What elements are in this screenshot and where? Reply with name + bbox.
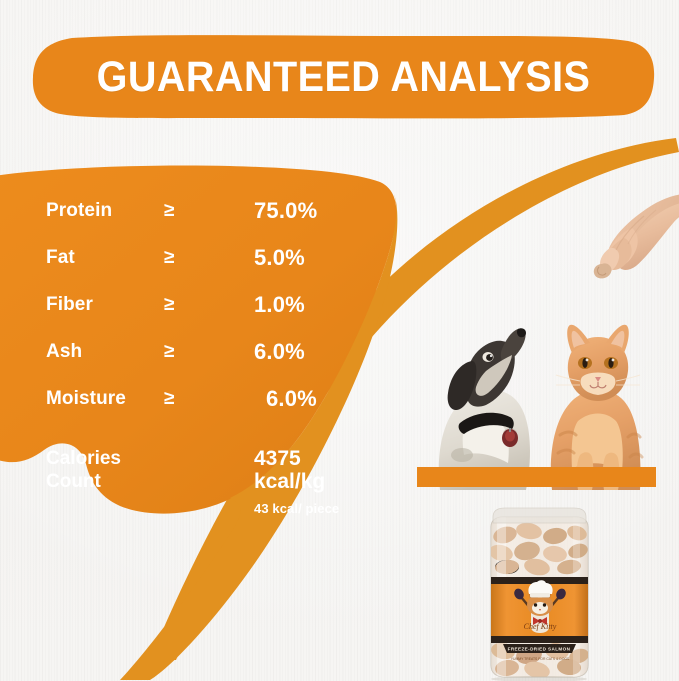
hand-illustration (566, 192, 679, 287)
calories-label: Calories Count (46, 447, 121, 493)
pets-photo (414, 305, 679, 490)
calories-per-piece: 43 kcal/ piece (254, 501, 339, 516)
nutrient-operator: ≥ (164, 341, 174, 363)
nutrient-operator: ≥ (164, 247, 174, 269)
jar-brand-text: Chef Kitty (524, 622, 557, 631)
nutrient-value: 5.0% (254, 245, 305, 271)
jar-subtext: YUMMY TREATS FOR CATS & DOGS (511, 657, 570, 661)
table-row: Fiber ≥ 1.0% (46, 294, 366, 341)
svg-text:FREEZE-DRIED SALMON: FREEZE-DRIED SALMON (508, 646, 571, 651)
table-row: Protein ≥ 75.0% (46, 200, 366, 247)
nutrient-value: 1.0% (254, 292, 305, 318)
table-row: Ash ≥ 6.0% (46, 341, 366, 388)
nutrient-operator: ≥ (164, 294, 174, 316)
product-jar: Chef Kitty FREEZE-DRIED SALMON YUMMY TRE… (477, 505, 602, 681)
table-row: Fat ≥ 5.0% (46, 247, 366, 294)
nutrient-operator: ≥ (164, 388, 174, 410)
nutrient-value: 6.0% (254, 339, 305, 365)
nutrient-label: Fiber (46, 294, 93, 316)
nutrition-table: Protein ≥ 75.0% Fat ≥ 5.0% Fiber ≥ 1.0% … (46, 200, 366, 435)
nutrient-label: Ash (46, 341, 82, 363)
page-title: GUARANTEED ANALYSIS (57, 35, 630, 119)
table-row: Moisture ≥ 6.0% (46, 388, 366, 435)
pets-illustration (414, 305, 679, 490)
infographic-page: GUARANTEED ANALYSIS Protein ≥ 75.0% (0, 0, 679, 681)
nutrient-label: Fat (46, 247, 75, 269)
nutrient-operator: ≥ (164, 200, 174, 222)
nutrient-label: Moisture (46, 388, 126, 410)
cat-figure (551, 325, 642, 490)
calories-value: 4375 kcal/kg (254, 447, 325, 493)
hand-photo (566, 192, 679, 287)
title-banner: GUARANTEED ANALYSIS (32, 35, 655, 119)
shelf-bar (417, 467, 656, 487)
nutrient-label: Protein (46, 200, 112, 222)
nutrient-value: 6.0% (266, 386, 317, 412)
jar-flavor-banner: FREEZE-DRIED SALMON (503, 644, 576, 653)
nutrient-value: 75.0% (254, 198, 317, 224)
dog-figure (439, 328, 530, 490)
product-jar-illustration: Chef Kitty FREEZE-DRIED SALMON YUMMY TRE… (477, 505, 602, 681)
